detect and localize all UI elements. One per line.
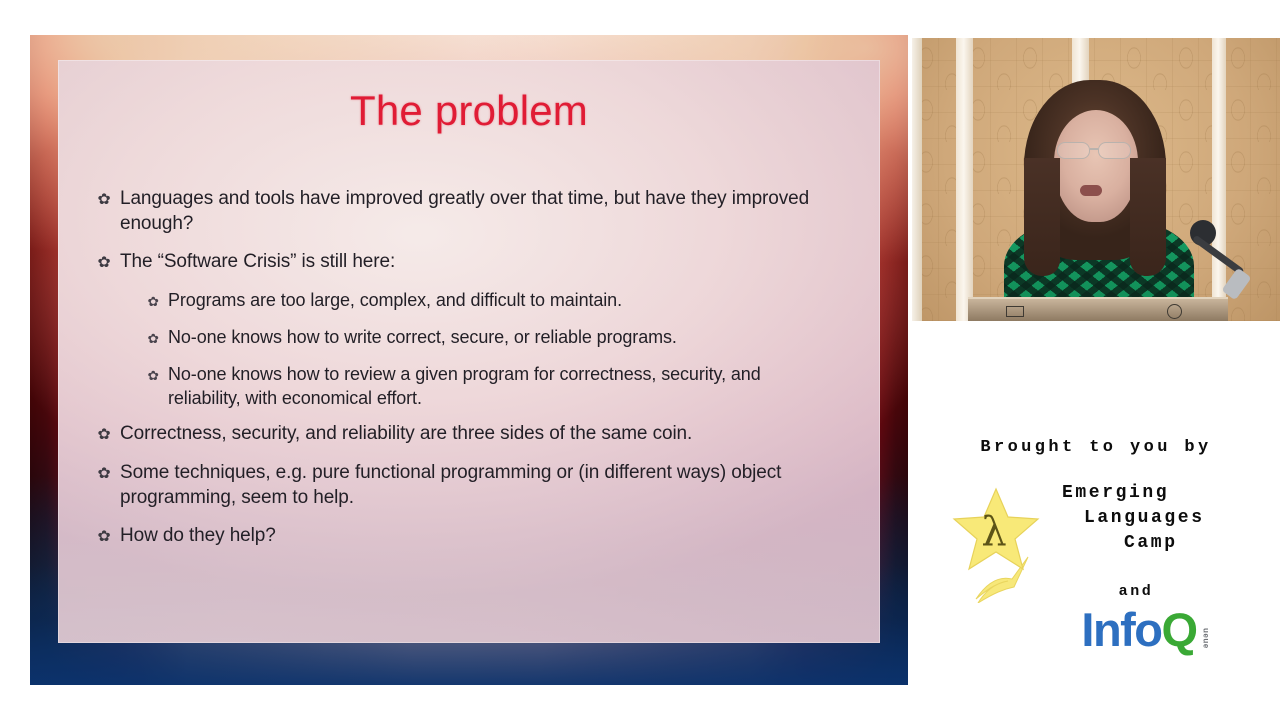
bullet-marker-icon: ✿: [97, 186, 120, 212]
bullet-text: How do they help?: [120, 523, 832, 548]
sub-bullet-marker-icon: ✿: [148, 288, 169, 314]
sub-bullet-marker-icon: ✿: [148, 362, 169, 388]
sub-bullet-text: Programs are too large, complex, and dif…: [168, 288, 832, 312]
infoq-q-text: Q: [1162, 603, 1197, 656]
slide-panel: The problem ✿ Languages and tools have i…: [30, 35, 908, 685]
eyeglass-bridge: [1090, 148, 1098, 150]
speaker-video[interactable]: [912, 38, 1280, 321]
infoq-logo[interactable]: InfoQ ueue: [912, 606, 1280, 653]
slide-bullet-list: ✿ Languages and tools have improved grea…: [58, 186, 880, 549]
laptop-screen-glyph: [1006, 306, 1024, 317]
bullet-item: ✿ Some techniques, e.g. pure functional …: [98, 460, 832, 510]
eyeglass-right: [1098, 142, 1131, 159]
sub-bullet-marker-icon: ✿: [148, 325, 169, 351]
bullet-marker-icon: ✿: [97, 249, 120, 275]
laptop-icon: [968, 297, 1228, 321]
bullet-item: ✿ The “Software Crisis” is still here:: [98, 249, 832, 275]
wall-pillar: [1212, 38, 1226, 321]
sub-bullet-item: ✿ No-one knows how to write correct, sec…: [148, 325, 832, 351]
slide-content-card: The problem ✿ Languages and tools have i…: [58, 60, 880, 643]
bullet-item: ✿ Languages and tools have improved grea…: [98, 186, 832, 236]
eyeglass-left: [1057, 142, 1090, 159]
infoq-info-text: Info: [1081, 603, 1161, 656]
bullet-text: Languages and tools have improved greatl…: [120, 186, 832, 236]
sub-bullet-text: No-one knows how to review a given progr…: [168, 362, 832, 410]
elc-line-camp: Camp: [1038, 531, 1268, 556]
slide-title: The problem: [58, 60, 880, 134]
bullet-marker-icon: ✿: [97, 460, 120, 486]
svg-text:λ: λ: [981, 509, 1006, 555]
sub-bullet-text: No-one knows how to write correct, secur…: [168, 325, 832, 349]
wall-pillar: [956, 38, 973, 321]
speaker-mouth: [1080, 185, 1102, 196]
presentation-video-viewer: The problem ✿ Languages and tools have i…: [0, 0, 1280, 720]
elc-line-emerging: Emerging: [1038, 481, 1268, 506]
bullet-marker-icon: ✿: [97, 523, 120, 549]
sub-bullet-item: ✿ No-one knows how to review a given pro…: [148, 362, 832, 410]
brought-to-you-by-label: Brought to you by: [912, 420, 1280, 457]
bullet-text: The “Software Crisis” is still here:: [120, 249, 832, 274]
bullet-text: Correctness, security, and reliability a…: [120, 421, 832, 446]
sub-bullet-item: ✿ Programs are too large, complex, and d…: [148, 288, 832, 314]
wall-frame: [912, 38, 922, 321]
bullet-item: ✿ How do they help?: [98, 523, 832, 549]
sponsor-panel: Brought to you by λ Emerging Languages C…: [912, 420, 1280, 650]
laptop-dial-glyph: [1167, 304, 1182, 319]
bullet-text: Some techniques, e.g. pure functional pr…: [120, 460, 832, 510]
speaker-hair-right: [1130, 158, 1166, 276]
elc-text-lines: Emerging Languages Camp: [1038, 481, 1268, 556]
bullet-item: ✿ Correctness, security, and reliability…: [98, 421, 832, 447]
infoq-queue-text: ueue: [1202, 628, 1210, 649]
speaker-hair-left: [1024, 158, 1060, 276]
speaker-face: [1054, 110, 1138, 222]
elc-line-languages: Languages: [1038, 506, 1268, 531]
emerging-languages-camp-logo: λ Emerging Languages Camp: [912, 467, 1280, 587]
bullet-marker-icon: ✿: [97, 421, 120, 447]
